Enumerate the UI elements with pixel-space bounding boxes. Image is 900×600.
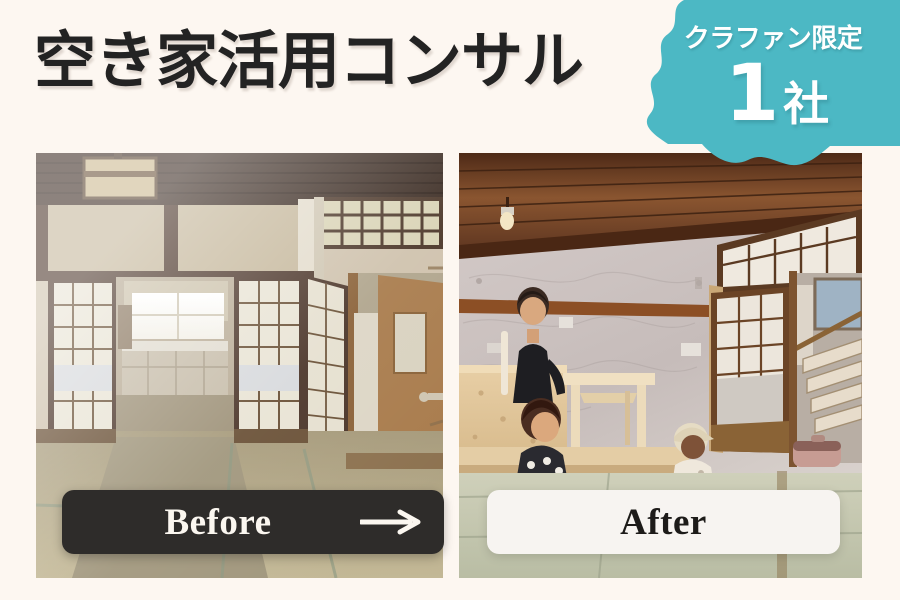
after-label-bar: After	[487, 490, 840, 554]
after-shoji-right	[711, 287, 789, 453]
after-label: After	[620, 501, 707, 544]
page-title: 空き家活用コンサル	[34, 30, 583, 92]
status-badge: クラファン限定 1 社	[628, 0, 900, 166]
before-label: Before	[164, 501, 271, 544]
staircase	[789, 271, 862, 467]
badge-blob-shape	[628, 0, 900, 166]
arrow-right-glyph	[360, 509, 422, 535]
before-label-bar: Before	[62, 490, 444, 554]
promo-banner: 空き家活用コンサル	[0, 0, 900, 600]
arrow-right-icon	[360, 509, 422, 535]
